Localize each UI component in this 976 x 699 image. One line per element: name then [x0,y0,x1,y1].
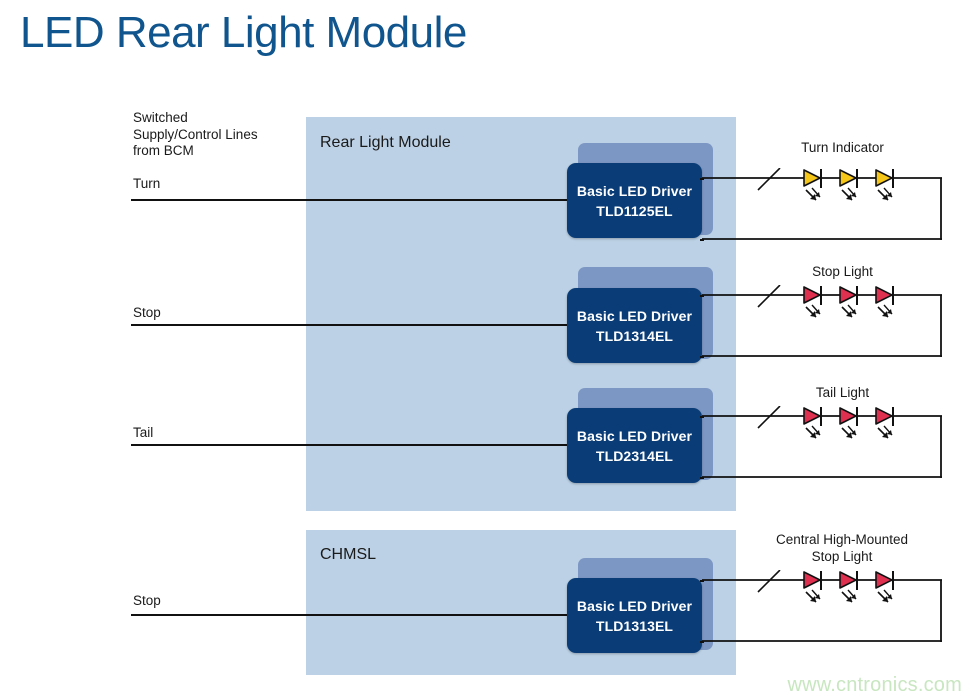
driver-output-wire-stop-bottom [700,356,704,358]
led-turn-2 [840,169,857,200]
control-wire-turn [131,199,568,201]
led-tail-2 [840,407,857,438]
panel-label-chmsl: CHMSL [320,546,376,564]
driver-box-tld2314el[interactable]: Basic LED Driver TLD2314EL [567,408,702,483]
led-tail-1 [804,407,821,438]
led-title-chmsl-line-2: Stop Light [742,548,942,565]
driver-output-wire-tail-bottom [700,477,704,479]
driver-box-tld1313el[interactable]: Basic LED Driver TLD1313EL [567,578,702,653]
led-chmsl-1 [804,571,821,602]
watermark: www.cntronics.com [787,674,962,697]
control-label-stop-2: Stop [133,593,161,608]
led-tail-3 [876,407,893,438]
led-circuit-turn-indicator [700,168,944,248]
led-turn-3 [876,169,893,200]
led-stop-1 [804,286,821,317]
driver-4-line-2: TLD1313EL [596,616,673,636]
bcm-note-line-2: Supply/Control Lines [133,127,258,144]
bcm-note-line-3: from BCM [133,143,258,160]
led-title-chmsl-line-1: Central High-Mounted [742,531,942,548]
driver-output-wire-chmsl-top [700,580,704,582]
bcm-note-line-1: Switched [133,110,258,127]
control-label-stop-1: Stop [133,305,161,320]
driver-4-line-1: Basic LED Driver [577,596,692,616]
led-circuit-chmsl-stop-light [700,570,944,650]
driver-output-wire-stop-top [700,295,704,297]
driver-2-line-1: Basic LED Driver [577,306,692,326]
led-chmsl-3 [876,571,893,602]
led-chmsl-2 [840,571,857,602]
led-circuit-tail-light [700,406,944,486]
driver-box-tld1314el[interactable]: Basic LED Driver TLD1314EL [567,288,702,363]
control-label-turn: Turn [133,176,160,191]
panel-label-rear-light-module: Rear Light Module [320,134,451,152]
led-title-turn-indicator-line-1: Turn Indicator [801,140,884,155]
led-stop-3 [876,286,893,317]
driver-output-wire-turn-bottom [700,239,704,241]
driver-1-line-2: TLD1125EL [596,201,672,221]
led-title-tail-light: Tail Light [745,384,940,401]
control-wire-stop-2 [131,614,568,616]
driver-2-line-2: TLD1314EL [596,326,673,346]
control-wire-tail [131,444,568,446]
driver-output-wire-chmsl-bottom [700,641,704,643]
led-stop-2 [840,286,857,317]
driver-output-wire-tail-top [700,416,704,418]
diagram-canvas: LED Rear Light Module Rear Light Module … [0,0,976,699]
led-title-stop-light-line-1: Stop Light [812,264,873,279]
led-title-chmsl-stop-light: Central High-Mounted Stop Light [742,531,942,565]
led-title-turn-indicator: Turn Indicator [745,139,940,156]
led-title-stop-light: Stop Light [745,263,940,280]
driver-box-tld1125el[interactable]: Basic LED Driver TLD1125EL [567,163,702,238]
led-turn-1 [804,169,821,200]
led-circuit-stop-light [700,285,944,365]
driver-output-wire-turn-top [700,178,704,180]
control-label-tail: Tail [133,425,153,440]
control-wire-stop-1 [131,324,568,326]
page-title: LED Rear Light Module [20,8,467,58]
driver-1-line-1: Basic LED Driver [577,181,692,201]
bcm-note: Switched Supply/Control Lines from BCM [133,110,258,160]
led-title-tail-light-line-1: Tail Light [816,385,869,400]
driver-3-line-1: Basic LED Driver [577,426,692,446]
driver-3-line-2: TLD2314EL [596,446,673,466]
